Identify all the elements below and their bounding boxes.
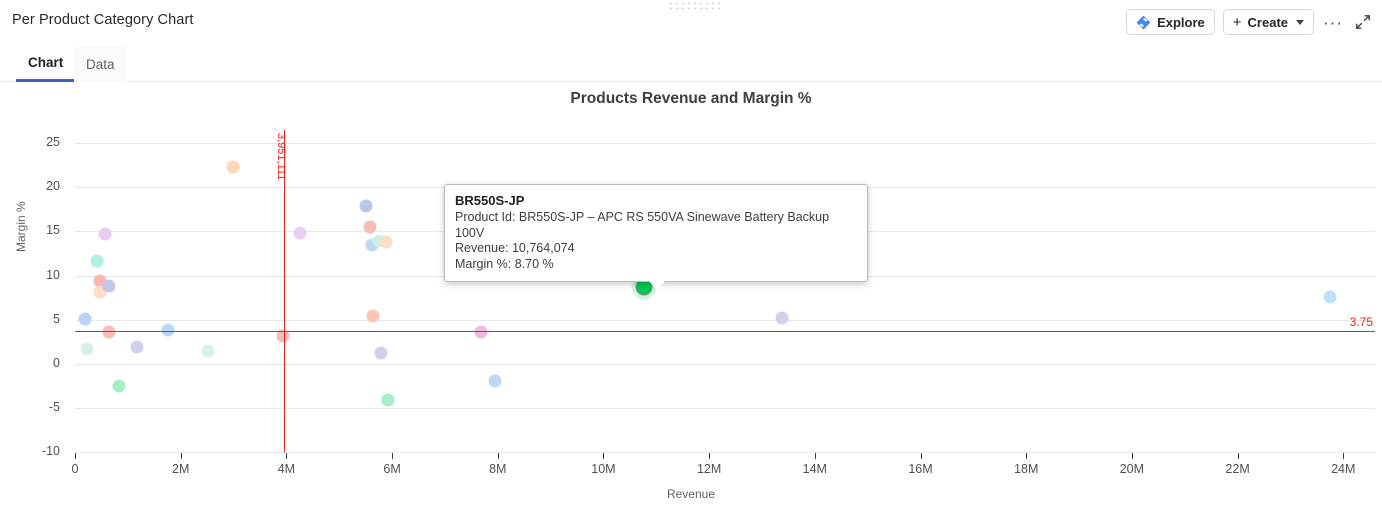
page-title: Per Product Category Chart (12, 12, 194, 28)
x-axis-tick-mark (921, 453, 922, 459)
scatter-point[interactable] (81, 342, 94, 355)
reference-line-vertical-label: 3,951,111 (275, 133, 287, 180)
reference-line-horizontal-label: 3.75 (1350, 315, 1373, 329)
panel-header: Per Product Category Chart Explore + Cre… (0, 0, 1382, 46)
x-axis-tick-mark (1238, 453, 1239, 459)
x-axis-label: Revenue (0, 487, 1382, 501)
x-axis-tick-label: 16M (891, 462, 951, 476)
expand-button[interactable] (1352, 11, 1374, 33)
x-axis-tick-label: 4M (256, 462, 316, 476)
gridline (75, 143, 1375, 144)
scatter-point[interactable] (131, 341, 144, 354)
scatter-point[interactable] (488, 375, 501, 388)
x-axis-tick-mark (1132, 453, 1133, 459)
chart-panel: Per Product Category Chart Explore + Cre… (0, 0, 1382, 512)
y-axis-tick-label: 15 (0, 223, 60, 237)
x-axis-tick-label: 18M (996, 462, 1056, 476)
y-axis-tick-label: -5 (0, 400, 60, 414)
tab-bar: Chart Data (0, 46, 1382, 82)
scatter-point[interactable] (91, 255, 104, 268)
tab-data[interactable]: Data (74, 46, 127, 82)
tooltip-revenue: Revenue: 10,764,074 (455, 241, 857, 257)
drag-handle-dots-icon[interactable] (668, 1, 720, 11)
x-axis-tick-mark (1026, 453, 1027, 459)
explore-button-label: Explore (1157, 15, 1205, 30)
tooltip-product-id: Product Id: BR550S-JP – APC RS 550VA Sin… (455, 210, 857, 241)
x-axis-tick-label: 14M (785, 462, 845, 476)
y-axis-tick-label: 10 (0, 268, 60, 282)
tab-chart[interactable]: Chart (16, 46, 75, 82)
x-axis-tick-label: 12M (679, 462, 739, 476)
scatter-point[interactable] (102, 280, 115, 293)
scatter-point[interactable] (1323, 290, 1336, 303)
expand-diagonal-icon (1355, 14, 1371, 30)
chevron-down-icon (1296, 20, 1304, 25)
ellipsis-icon: ··· (1323, 14, 1343, 31)
x-axis-tick-label: 22M (1208, 462, 1268, 476)
gridline (75, 364, 1375, 365)
explore-diamond-icon (1136, 15, 1151, 30)
tooltip-title: BR550S-JP (455, 193, 857, 208)
chart-title: Products Revenue and Margin % (0, 90, 1382, 108)
header-actions: Explore + Create ··· (1126, 9, 1374, 35)
scatter-point[interactable] (366, 310, 379, 323)
x-axis-tick-mark (392, 453, 393, 459)
x-axis-tick-label: 20M (1102, 462, 1162, 476)
x-axis-tick-label: 2M (151, 462, 211, 476)
create-button[interactable]: + Create (1223, 9, 1314, 35)
x-axis-tick-label: 8M (468, 462, 528, 476)
reference-line-horizontal (75, 331, 1375, 333)
more-options-button[interactable]: ··· (1322, 11, 1344, 33)
y-axis-tick-label: 5 (0, 312, 60, 326)
scatter-point[interactable] (227, 161, 240, 174)
x-axis-tick-label: 0 (45, 462, 105, 476)
scatter-point[interactable] (78, 312, 91, 325)
y-axis-tick-label: 0 (0, 356, 60, 370)
scatter-point[interactable] (112, 379, 125, 392)
tooltip-margin: Margin %: 8.70 % (455, 257, 857, 273)
scatter-point[interactable] (776, 311, 789, 324)
x-axis-tick-label: 10M (573, 462, 633, 476)
x-axis-tick-mark (1343, 453, 1344, 459)
x-axis-tick-mark (75, 453, 76, 459)
explore-button[interactable]: Explore (1126, 9, 1215, 35)
point-tooltip: BR550S-JP Product Id: BR550S-JP – APC RS… (444, 184, 868, 282)
x-axis-tick-mark (181, 453, 182, 459)
scatter-point[interactable] (382, 393, 395, 406)
x-axis-tick-mark (709, 453, 710, 459)
y-axis-tick-label: 20 (0, 179, 60, 193)
gridline (75, 320, 1375, 321)
plot-area[interactable]: 2520151050-5-10 3,951,1113.75 (75, 130, 1375, 452)
scatter-point[interactable] (98, 228, 111, 241)
x-axis-tick-label: 24M (1313, 462, 1373, 476)
scatter-point[interactable] (293, 227, 306, 240)
x-axis-tick-mark (815, 453, 816, 459)
scatter-point[interactable] (379, 236, 392, 249)
y-axis-tick-label: 25 (0, 135, 60, 149)
gridline (75, 408, 1375, 409)
gridline (75, 452, 1375, 453)
y-axis-tick-label: -10 (0, 444, 60, 458)
x-axis-tick-mark (603, 453, 604, 459)
x-axis-tick-mark (286, 453, 287, 459)
x-axis-tick-label: 6M (362, 462, 422, 476)
create-button-label: Create (1248, 15, 1288, 30)
plus-icon: + (1233, 15, 1242, 30)
scatter-point[interactable] (359, 199, 372, 212)
scatter-point[interactable] (202, 345, 215, 358)
scatter-point[interactable] (374, 347, 387, 360)
scatter-point[interactable] (364, 221, 377, 234)
x-axis-tick-mark (498, 453, 499, 459)
